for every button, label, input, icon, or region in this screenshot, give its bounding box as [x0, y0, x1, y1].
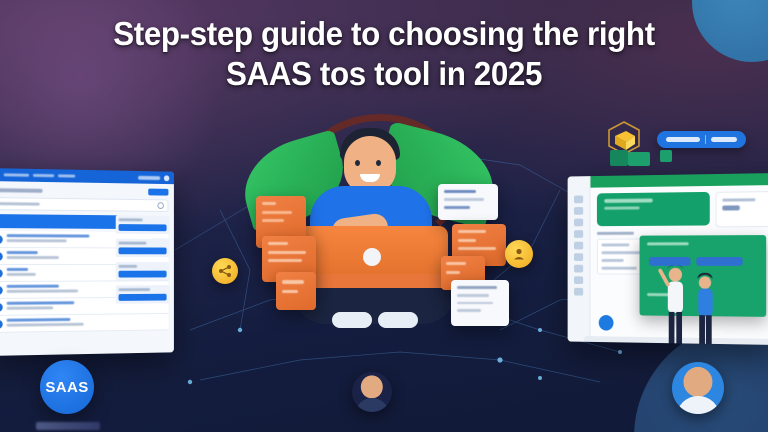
row-subtitle — [7, 290, 78, 293]
search-icon[interactable] — [157, 202, 163, 209]
avatar-right[interactable] — [672, 362, 724, 414]
floating-card-orange[interactable] — [276, 272, 316, 310]
avatar-face — [361, 376, 383, 399]
sidebar-icon-files[interactable] — [574, 265, 583, 273]
card-label — [458, 239, 476, 242]
avatar-center[interactable] — [352, 372, 392, 412]
card-label — [458, 230, 486, 233]
saas-dashboard-left[interactable] — [0, 168, 174, 356]
row-avatar-icon — [0, 286, 3, 295]
pill-label-right — [711, 137, 737, 142]
avatar-body — [356, 398, 389, 412]
card-label — [262, 202, 276, 205]
side-card-title — [119, 218, 143, 221]
card-label — [268, 259, 302, 262]
card-label — [282, 290, 298, 293]
left-primary-button[interactable] — [148, 189, 168, 196]
left-nav-item[interactable] — [4, 173, 29, 176]
sidebar-icon-settings[interactable] — [574, 276, 583, 284]
card-line — [457, 294, 489, 297]
side-card-button[interactable] — [119, 271, 167, 278]
row-title — [7, 285, 59, 289]
row-subtitle — [7, 239, 67, 242]
brand-badge[interactable]: SAAS — [40, 360, 94, 414]
left-nav-item[interactable] — [58, 174, 75, 177]
right-list-item[interactable] — [602, 252, 645, 255]
row-avatar-icon — [0, 303, 3, 312]
card-label — [282, 280, 304, 284]
table-row[interactable] — [0, 314, 168, 333]
shoe-left — [332, 312, 372, 328]
sidebar-icon-help[interactable] — [574, 288, 583, 296]
side-card-title — [119, 242, 147, 245]
side-card[interactable] — [116, 239, 170, 258]
right-highlight-card[interactable] — [597, 192, 710, 226]
decor-box — [628, 152, 650, 166]
side-card-button[interactable] — [119, 247, 167, 254]
decor-box — [610, 150, 628, 166]
sidebar-icon-home[interactable] — [574, 195, 583, 203]
left-side-panel — [116, 215, 170, 308]
right-list-item[interactable] — [602, 244, 630, 247]
left-nav-item[interactable] — [33, 174, 54, 177]
mouth — [360, 174, 380, 182]
brand-badge-label: SAAS — [45, 379, 88, 396]
right-list-item[interactable] — [602, 267, 637, 270]
right-dashboard-sidebar[interactable] — [568, 176, 591, 342]
card-label — [458, 247, 496, 250]
sidebar-icon-users[interactable] — [574, 242, 583, 250]
row-avatar-icon — [0, 269, 3, 278]
left-breadcrumb — [0, 188, 43, 193]
user-glyph — [511, 246, 527, 262]
eye-right — [376, 160, 381, 166]
row-avatar-icon — [0, 252, 3, 261]
pill-label-left — [666, 137, 700, 142]
sidebar-icon-dashboard[interactable] — [574, 207, 583, 215]
sidebar-icon-chart[interactable] — [574, 230, 583, 238]
eye-left — [355, 160, 360, 166]
row-title — [7, 234, 90, 238]
side-card[interactable] — [116, 285, 170, 304]
side-card-title — [119, 265, 138, 268]
row-title — [7, 318, 71, 322]
right-floating-action-button[interactable] — [599, 315, 614, 331]
card-line — [457, 286, 497, 289]
row-avatar-icon — [0, 235, 3, 244]
share-glyph — [217, 263, 233, 279]
left-search-placeholder — [0, 202, 40, 206]
brand-badge-caption — [36, 422, 100, 430]
sidebar-icon-list[interactable] — [574, 219, 583, 227]
people-illustration — [653, 259, 729, 345]
sidebar-icon-calendar[interactable] — [574, 253, 583, 261]
row-subtitle — [7, 307, 54, 310]
card-label — [268, 242, 288, 245]
row-title — [7, 268, 28, 271]
right-list-item[interactable] — [602, 259, 624, 262]
side-card[interactable] — [116, 215, 170, 234]
side-card-button[interactable] — [119, 294, 167, 301]
hero-banner: Step-step guide to choosing the right SA… — [0, 0, 768, 432]
card-subtitle — [444, 198, 484, 201]
card-label — [446, 262, 466, 265]
row-title — [7, 251, 38, 254]
stat-value — [722, 205, 739, 210]
avatar-face — [683, 367, 712, 397]
right-list-header — [597, 232, 634, 235]
left-account-avatar[interactable] — [164, 175, 169, 181]
row-subtitle — [7, 323, 84, 327]
left-topbar-actions[interactable] — [138, 175, 160, 179]
avatar-body — [677, 396, 720, 414]
row-avatar-icon — [0, 320, 3, 329]
card-label — [446, 271, 460, 274]
floating-card-white[interactable] — [438, 184, 498, 220]
user-badge-icon — [505, 240, 533, 268]
pill-divider — [705, 135, 707, 144]
card-label — [268, 251, 306, 254]
shoe-right — [378, 312, 418, 328]
card-title — [444, 190, 476, 193]
row-subtitle — [7, 256, 59, 259]
card-line — [457, 302, 493, 305]
right-stat-card[interactable] — [716, 191, 768, 227]
decor-box — [660, 150, 672, 162]
card-value — [444, 206, 470, 209]
side-card-title — [119, 288, 151, 291]
stat-label — [722, 198, 755, 201]
cta-pill-button[interactable] — [657, 131, 747, 148]
side-card-button[interactable] — [119, 224, 167, 231]
card-title — [604, 199, 652, 203]
side-card[interactable] — [116, 262, 170, 280]
card-label — [262, 219, 284, 222]
saas-dashboard-right[interactable] — [568, 173, 768, 345]
right-dashboard-topbar — [568, 173, 768, 188]
floating-card-white[interactable] — [451, 280, 509, 326]
card-line — [457, 309, 481, 312]
laptop-logo-icon — [363, 248, 381, 266]
screen-title — [647, 242, 689, 245]
share-network-icon — [212, 258, 238, 284]
card-label — [262, 211, 292, 214]
row-subtitle — [7, 273, 36, 276]
card-subtitle — [604, 206, 639, 209]
row-title — [7, 301, 75, 305]
